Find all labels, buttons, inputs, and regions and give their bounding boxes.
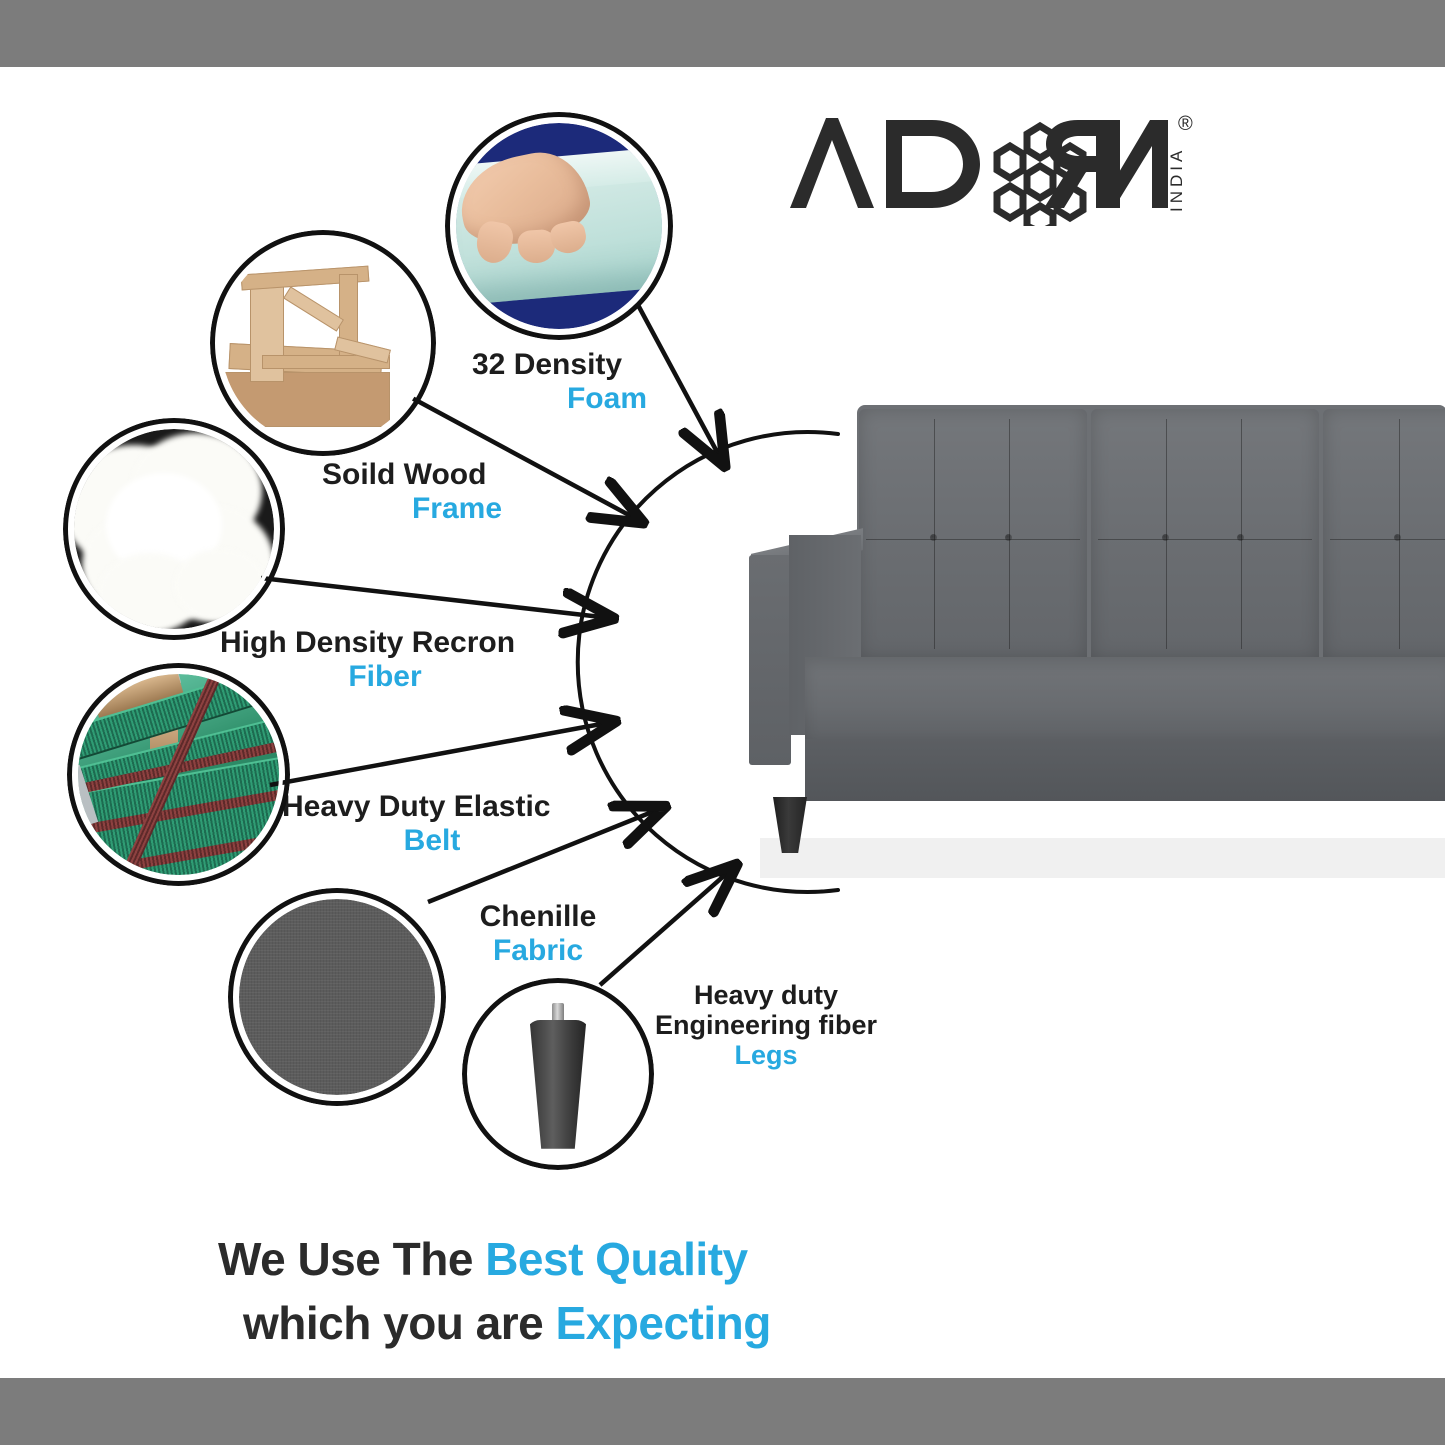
tagline-line2-plain: which you are xyxy=(243,1297,556,1349)
sofa-leg xyxy=(773,797,807,853)
feature-bubble-frame xyxy=(210,230,436,456)
label-fabric-accent: Fabric xyxy=(440,934,636,968)
registered-mark: ® xyxy=(1178,113,1193,135)
logo-country-text: INDIA xyxy=(1167,147,1186,212)
label-foam-accent: Foam xyxy=(472,382,742,416)
green-elastic-webbing-belt-photo xyxy=(78,674,279,875)
label-belt-title: Heavy Duty Elastic xyxy=(282,790,550,823)
label-belt: Heavy Duty Elastic Belt xyxy=(282,790,582,857)
black-tapered-sofa-leg-photo xyxy=(473,989,643,1159)
foam-block-hand-press-photo xyxy=(456,123,662,329)
tagline-line-1: We Use The Best Quality xyxy=(0,1232,1445,1286)
tagline-line1-highlight: Best Quality xyxy=(485,1233,747,1285)
recron-fiber-fluff-photo xyxy=(74,429,274,629)
label-fabric-title: Chenille xyxy=(480,900,597,933)
tufting-grid-3 xyxy=(1323,409,1445,659)
tagline-line2-highlight: Expecting xyxy=(556,1297,771,1349)
label-fabric: Chenille Fabric xyxy=(440,900,636,967)
tagline-line1-plain: We Use The xyxy=(218,1233,485,1285)
feature-bubble-foam xyxy=(445,112,673,340)
solid-wood-sofa-frame-photo xyxy=(221,241,425,445)
label-frame: Soild Wood Frame xyxy=(322,458,592,525)
seat-cushion xyxy=(805,657,1445,739)
label-frame-title: Soild Wood xyxy=(322,458,486,491)
adorn-india-logo: INDIA ® xyxy=(782,108,1212,226)
tufting-grid-1 xyxy=(859,409,1087,659)
logo-svg: INDIA ® xyxy=(782,108,1212,226)
feature-bubble-belt xyxy=(67,663,290,886)
top-frame-bar xyxy=(0,0,1445,67)
label-frame-accent: Frame xyxy=(322,492,592,526)
product-sofa-image xyxy=(735,395,1445,865)
grey-chenille-fabric-swatch-photo xyxy=(239,899,435,1095)
label-foam: 32 Density Foam xyxy=(472,348,742,415)
tufting-grid-2 xyxy=(1091,409,1319,659)
arrow-fiber xyxy=(261,578,610,618)
label-legs-accent: Legs xyxy=(648,1040,884,1070)
back-panel-1 xyxy=(859,409,1087,659)
back-panel-2 xyxy=(1091,409,1319,659)
sofa-base-skirt xyxy=(805,739,1445,801)
label-foam-title: 32 Density xyxy=(472,348,622,381)
label-legs-title-line1: Heavy duty xyxy=(694,980,838,1010)
feature-bubble-fabric xyxy=(228,888,446,1106)
tagline-line-2: which you are Expecting xyxy=(0,1296,1445,1350)
bottom-frame-bar xyxy=(0,1378,1445,1445)
back-panel-3 xyxy=(1323,409,1445,659)
feature-bubble-legs xyxy=(462,978,654,1170)
label-fiber-title: High Density Recron xyxy=(220,626,515,659)
label-belt-accent: Belt xyxy=(282,824,582,858)
infographic-canvas: INDIA ® xyxy=(0,0,1445,1445)
tagline-block: We Use The Best Quality which you are Ex… xyxy=(0,1232,1445,1350)
label-legs: Heavy duty Engineering fiber Legs xyxy=(648,980,884,1071)
arrow-belt xyxy=(270,722,612,785)
label-legs-title-line2: Engineering fiber xyxy=(655,1010,877,1040)
arm-outer-face xyxy=(749,555,791,765)
feature-bubble-fiber xyxy=(63,418,285,640)
